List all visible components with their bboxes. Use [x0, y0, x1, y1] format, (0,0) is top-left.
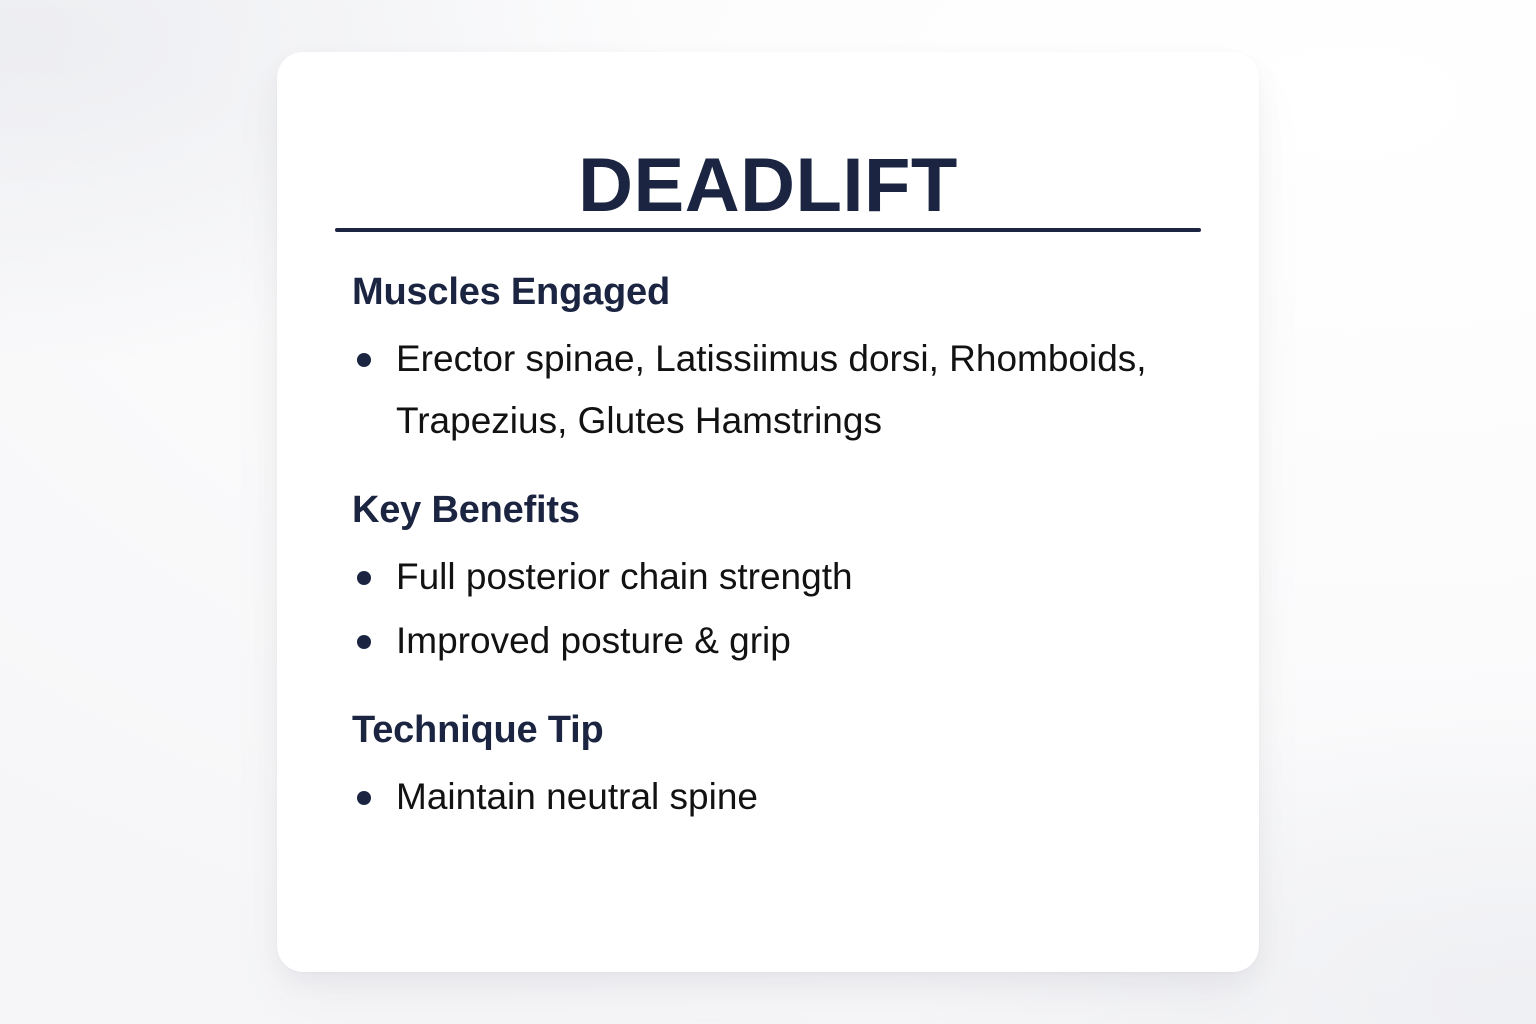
- list-item: Improved posture & grip: [352, 610, 1232, 672]
- page-background: DEADLIFT Muscles Engaged Erector spinae,…: [0, 0, 1536, 1024]
- section-heading-key-benefits: Key Benefits: [352, 490, 1232, 532]
- section-heading-technique-tip: Technique Tip: [352, 710, 1232, 752]
- title-divider: [335, 228, 1201, 232]
- card-content: Muscles Engaged Erector spinae, Latissii…: [352, 272, 1232, 828]
- exercise-card: DEADLIFT Muscles Engaged Erector spinae,…: [277, 52, 1259, 972]
- page-title: DEADLIFT: [277, 148, 1259, 224]
- section-key-benefits: Key Benefits Full posterior chain streng…: [352, 490, 1232, 672]
- bullet-dot-icon: [357, 571, 371, 585]
- list-item: Maintain neutral spine: [352, 766, 1232, 828]
- list-item-text: Erector spinae, Latissiimus dorsi, Rhomb…: [396, 338, 1147, 441]
- bullet-list-technique-tip: Maintain neutral spine: [352, 766, 1232, 828]
- list-item-text: Maintain neutral spine: [396, 776, 758, 817]
- section-technique-tip: Technique Tip Maintain neutral spine: [352, 710, 1232, 828]
- bullet-dot-icon: [357, 635, 371, 649]
- bullet-dot-icon: [357, 353, 371, 367]
- section-heading-muscles-engaged: Muscles Engaged: [352, 272, 1232, 314]
- bullet-dot-icon: [357, 791, 371, 805]
- list-item: Erector spinae, Latissiimus dorsi, Rhomb…: [352, 328, 1232, 452]
- list-item-text: Full posterior chain strength: [396, 556, 853, 597]
- bullet-list-key-benefits: Full posterior chain strength Improved p…: [352, 546, 1232, 672]
- bullet-list-muscles-engaged: Erector spinae, Latissiimus dorsi, Rhomb…: [352, 328, 1232, 452]
- list-item-text: Improved posture & grip: [396, 620, 791, 661]
- section-muscles-engaged: Muscles Engaged Erector spinae, Latissii…: [352, 272, 1232, 452]
- list-item: Full posterior chain strength: [352, 546, 1232, 608]
